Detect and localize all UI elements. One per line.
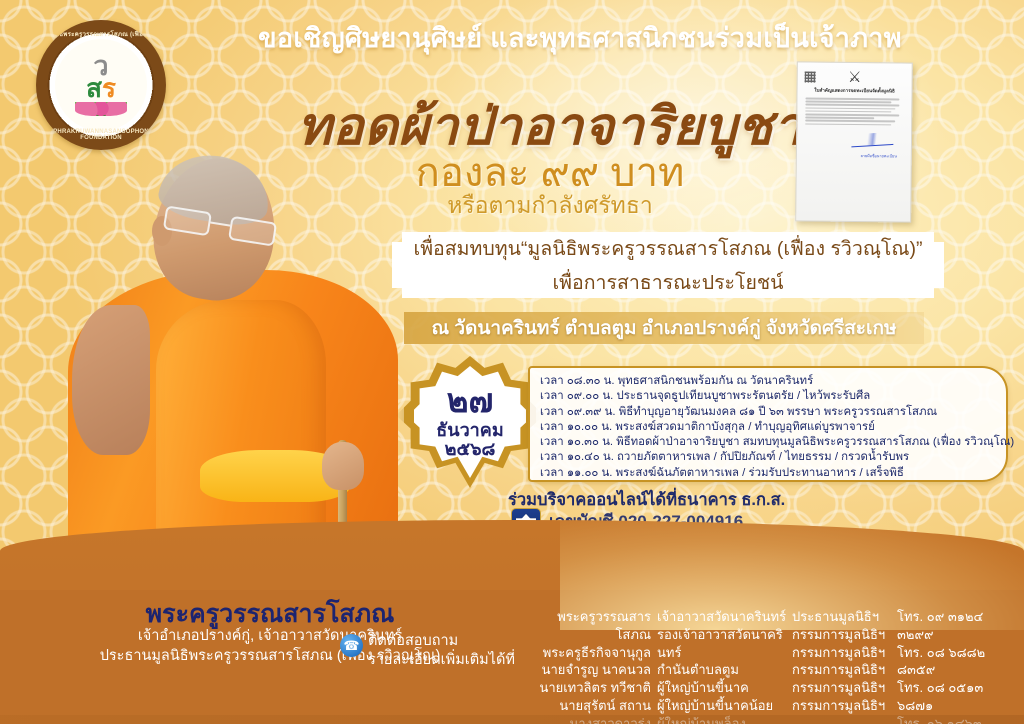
monk-portrait-image: [60, 150, 420, 570]
event-month: ธันวาคม: [436, 421, 503, 439]
contact-phone[interactable]: โทร. ๐๙ ๓๑๒๔ ๓๒๙๙: [897, 608, 1019, 644]
contact-role: กำนันตำบลตูม: [657, 661, 797, 679]
signature-scribble-icon: [851, 132, 894, 147]
schedule-row: เวลา ๑๑.๐๐ น. พระสงฆ์ฉันภัตตาหารเพล / ร่…: [540, 466, 994, 481]
purpose-line-2: เพื่อการสาธารณะประโยชน์: [553, 267, 784, 298]
foundation-role: กรรมการมูลนิธิฯ: [792, 679, 896, 697]
foundation-role: กรรมการมูลนิธิฯ: [792, 661, 896, 679]
schedule-row: เวลา ๑๐.๔๐ น. ถวายภัตตาหารเพล / กัปปิยภั…: [540, 450, 994, 465]
foundation-seal-icon: มูลนิธิพระครูวรรณสารโสภณ (เฟื่อง รวิวณฺโ…: [36, 20, 166, 150]
foundation-role: กรรมการมูลนิธิฯ: [792, 697, 896, 715]
contact-name: พระครูวรรณสารโสภณ: [533, 608, 651, 644]
contact-roles-column: เจ้าอาวาสวัดนาครินทร์ รองเจ้าอาวาสวัดนาค…: [657, 608, 797, 724]
certificate-text-line: [805, 110, 891, 112]
contact-name: นายสุรัตน์ สถาน: [533, 697, 651, 715]
certificate-text-line: [805, 117, 874, 119]
contact-name: นายเทวลิตร ทวีชาติ: [533, 679, 651, 697]
contact-name: นายจำรูญ นาคนวล: [533, 661, 651, 679]
certificate-text-line: [805, 113, 899, 116]
garuda-emblem-icon: ⚔: [806, 69, 904, 85]
seal-glyph-row: สร: [86, 75, 116, 101]
schedule-row: เวลา ๐๙.๓๙ น. พิธีทำบุญอายุวัฒนมงคล ๘๑ ป…: [540, 405, 994, 420]
certificate-text-line: [805, 107, 895, 110]
phone-icon[interactable]: ☎: [340, 634, 363, 657]
monk-hand: [322, 442, 364, 490]
seal-core: ว สร: [55, 39, 147, 131]
event-day: ๒๗: [447, 384, 494, 417]
certificate-text-line: [805, 101, 891, 103]
contact-role: ผู้ใหญ่บ้านขี้นาค: [657, 679, 797, 697]
official-document-icon: ⚔ ใบสำคัญแสดงการจดทะเบียนจัดตั้งมูลนิธิ …: [795, 61, 913, 222]
foundation-role: กรรมการมูลนิธิฯ: [792, 626, 896, 644]
certificate-text-line: [805, 104, 899, 107]
poster-canvas: มูลนิธิพระครูวรรณสารโสภณ (เฟื่อง รวิวณฺโ…: [0, 0, 1024, 724]
schedule-row: เวลา ๐๘.๓๐ น. พุทธศาสนิกชนพร้อมกัน ณ วัด…: [540, 374, 994, 389]
certificate-text-line: [805, 120, 895, 123]
schedule-panel: เวลา ๐๘.๓๐ น. พุทธศาสนิกชนพร้อมกัน ณ วัด…: [528, 366, 1008, 482]
certificate-text-line: [805, 123, 891, 125]
contact-names-column: พระครูวรรณสารโสภณ พระครูธีรกิจจานุกูล นา…: [533, 608, 651, 724]
seal-glyph-right: ร: [102, 73, 116, 103]
event-year: ๒๕๖๘: [445, 439, 496, 461]
seal-ring-bottom-text: PHRAKRUWANNASANSOPHON FOUNDATION: [36, 129, 166, 141]
foundation-role: ประธานมูลนิธิฯ: [792, 608, 896, 626]
contact-line-2: รายละเอียดเพิ่มเติมได้ที่: [368, 651, 515, 670]
contact-role: รองเจ้าอาวาสวัดนาครินทร์: [657, 626, 797, 662]
contact-phone[interactable]: โทร. ๐๘ ๖๘๘๒ ๘๓๕๙: [897, 644, 1019, 680]
certificate-heading: ใบสำคัญแสดงการจดทะเบียนจัดตั้งมูลนิธิ: [805, 87, 903, 95]
contact-phone[interactable]: โทร. ๐๘ ๐๕๑๓ ๖๘๗๑: [897, 679, 1019, 715]
schedule-row: เวลา ๑๐.๐๐ น. พระสงฆ์สวดมาติกาบังสุกุล /…: [540, 420, 994, 435]
footer-edge: [0, 715, 1024, 724]
contact-role: ผู้ใหญ่บ้านขี้นาคน้อย: [657, 697, 797, 715]
invitation-headline: ขอเชิญศิษยานุศิษย์ และพุทธศาสนิกชนร่วมเป…: [180, 16, 980, 59]
contact-role: เจ้าอาวาสวัดนาครินทร์: [657, 608, 797, 626]
purpose-line-1: เพื่อสมทบทุน“มูลนิธิพระครูวรรณสารโสภณ (เ…: [414, 233, 923, 264]
certificate-text-line: [805, 97, 899, 100]
contact-name: พระครูธีรกิจจานุกูล: [533, 644, 651, 662]
certificate-signature-name: ลายมือชื่อนายทะเบียน: [805, 153, 903, 160]
seal-glyph-left: ส: [86, 73, 102, 103]
purpose-banner: เพื่อสมทบทุน“มูลนิธิพระครูวรรณสารโสภณ (เ…: [392, 232, 944, 298]
foundation-role: กรรมการมูลนิธิฯ: [792, 644, 896, 662]
location-bar: ณ วัดนาครินทร์ ตำบลตูม อำเภอปรางค์กู่ จั…: [404, 312, 924, 344]
lotus-icon: [75, 102, 127, 116]
qr-code-icon: [805, 71, 816, 82]
contact-label: ติดต่อสอบถาม รายละเอียดเพิ่มเติมได้ที่: [368, 632, 515, 670]
schedule-row: เวลา ๐๙.๐๐ น. ประธานจุดธูปเทียนบูชาพระรั…: [540, 389, 994, 404]
monk-shoulder: [72, 305, 150, 455]
glasses-bridge: [210, 221, 230, 226]
contact-line-1: ติดต่อสอบถาม: [368, 632, 515, 651]
schedule-row: เวลา ๑๐.๓๐ น. พิธีทอดผ้าป่าอาจาริยบูชา ส…: [540, 435, 994, 450]
foundation-roles-column: ประธานมูลนิธิฯ กรรมการมูลนิธิฯ กรรมการมู…: [792, 608, 896, 715]
certificate-signature: [805, 133, 903, 152]
contact-phones-column: โทร. ๐๙ ๓๑๒๔ ๓๒๙๙ โทร. ๐๘ ๖๘๘๒ ๘๓๕๙ โทร.…: [897, 608, 1019, 724]
